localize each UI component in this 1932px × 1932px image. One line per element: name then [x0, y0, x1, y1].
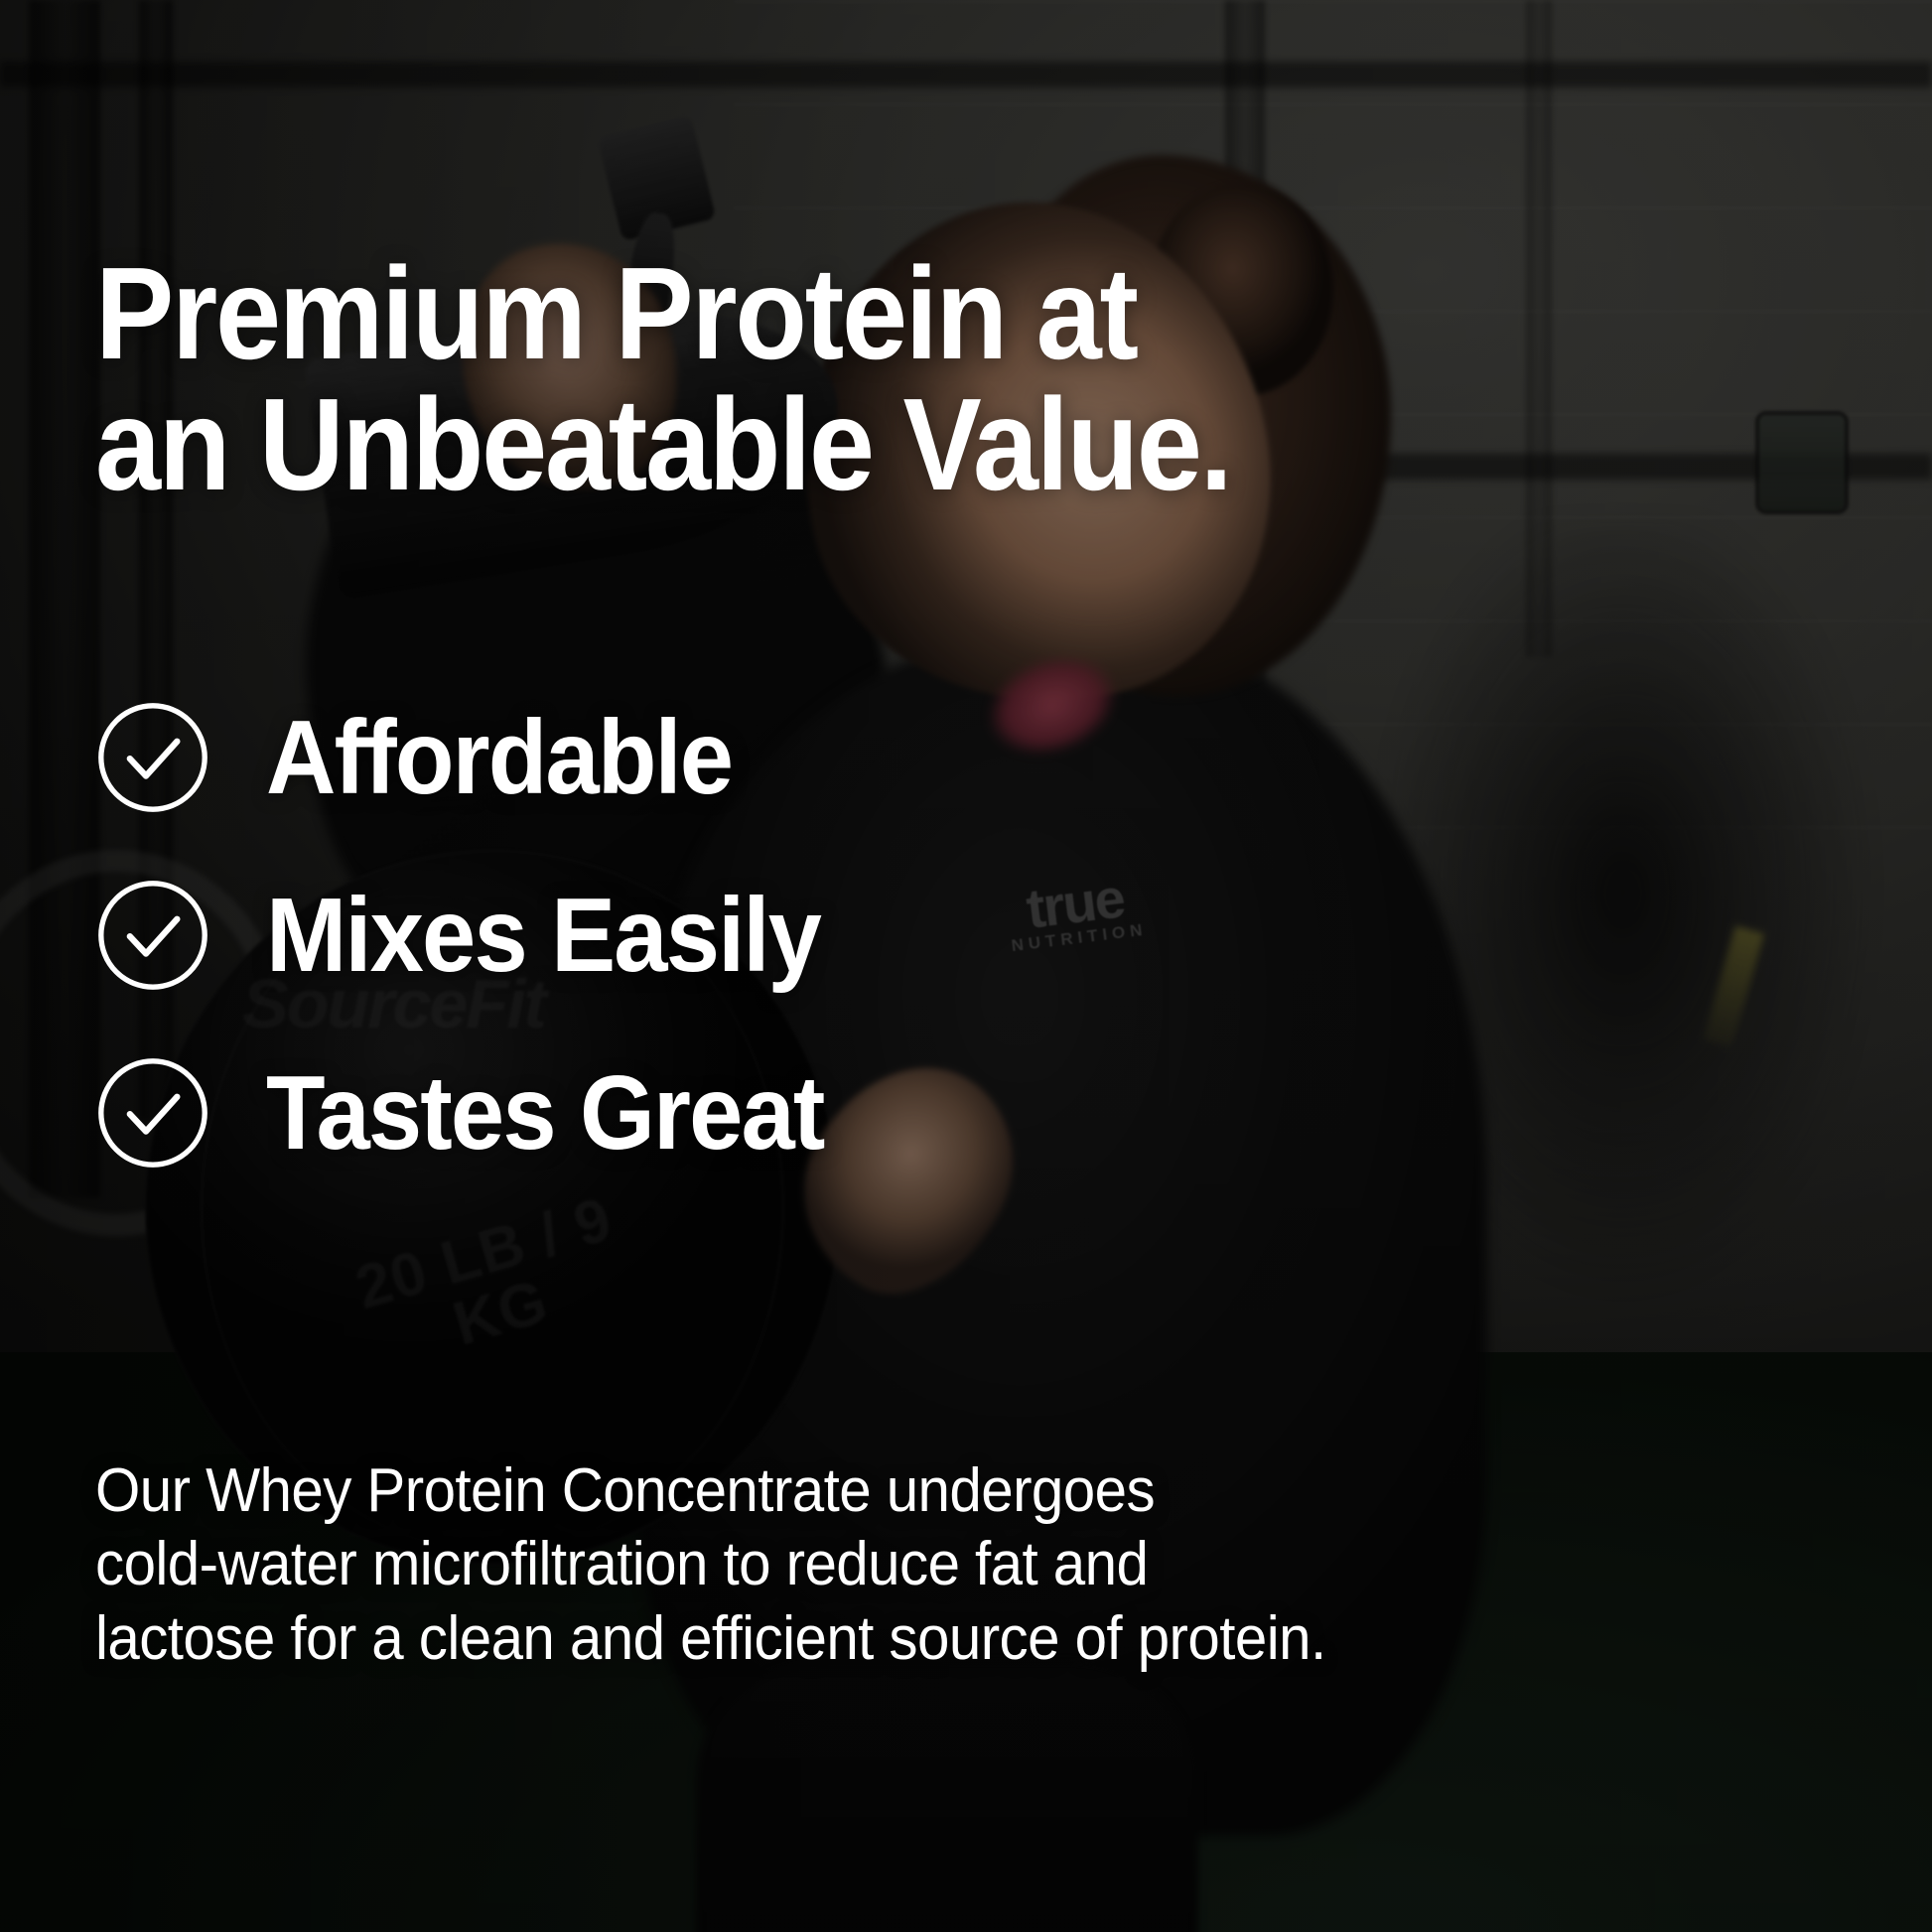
headline: Premium Protein at an Unbeatable Value.: [95, 248, 1695, 510]
text-overlay: Premium Protein at an Unbeatable Value. …: [0, 0, 1932, 1932]
promo-image: SourceFit 20 LB / 9 KG true NUTRITION Pr…: [0, 0, 1932, 1932]
check-circle-icon: [95, 878, 210, 993]
check-circle-icon: [95, 1055, 210, 1171]
check-circle-icon: [95, 700, 210, 815]
feature-item-affordable: Affordable: [95, 700, 1872, 815]
feature-label: Affordable: [266, 705, 732, 810]
feature-item-mixes-easily: Mixes Easily: [95, 878, 1872, 993]
feature-label: Tastes Great: [266, 1060, 824, 1166]
body-copy: Our Whey Protein Concentrate undergoes c…: [95, 1454, 1784, 1676]
feature-list: Affordable Mixes Easily Tastes Great: [95, 700, 1872, 1171]
feature-label: Mixes Easily: [266, 883, 820, 988]
feature-item-tastes-great: Tastes Great: [95, 1055, 1872, 1171]
